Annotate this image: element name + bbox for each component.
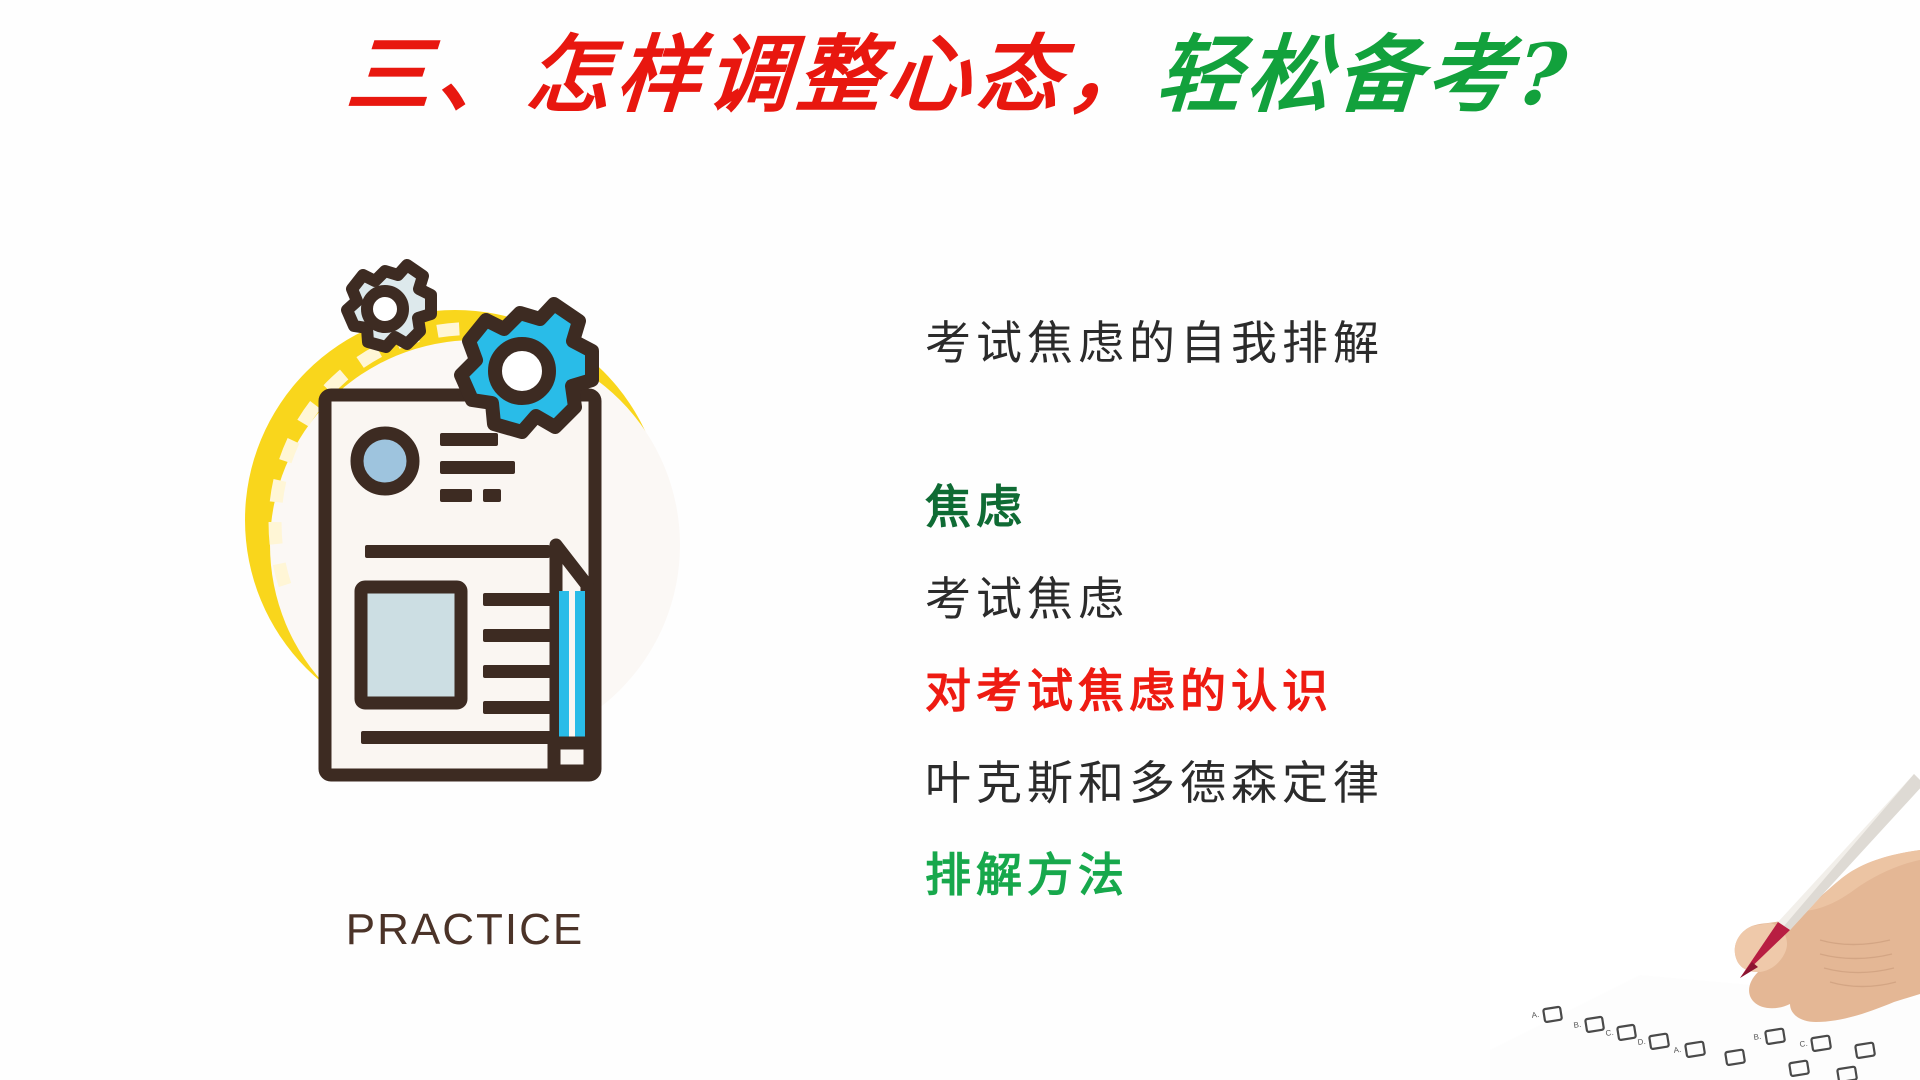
svg-text:A.: A. <box>1531 1010 1540 1020</box>
footer-rule <box>361 731 556 744</box>
title-red-segment: 三、怎样调整心态， <box>344 28 1161 122</box>
content-item-anxiety: 焦虑 <box>925 484 1605 530</box>
svg-text:C.: C. <box>1605 1028 1614 1038</box>
content-item-exam-anxiety: 考试焦虑 <box>925 576 1605 622</box>
svg-text:B.: B. <box>1573 1020 1582 1030</box>
slide-canvas: 三、怎样调整心态，轻松备考? <box>0 0 1920 1080</box>
svg-text:D.: D. <box>1637 1037 1646 1047</box>
divider-rule <box>365 545 550 558</box>
image-placeholder-box <box>361 587 461 703</box>
practice-caption: PRACTICE <box>225 905 705 955</box>
svg-text:B.: B. <box>1753 1032 1762 1042</box>
content-heading: 考试焦虑的自我排解 <box>925 320 1605 366</box>
content-item-understanding-exam-anxiety: 对考试焦虑的认识 <box>925 668 1605 714</box>
svg-text:A.: A. <box>1673 1045 1682 1055</box>
slide-title: 三、怎样调整心态，轻松备考? <box>0 28 1920 122</box>
title-green-segment: 轻松备考? <box>1154 28 1576 122</box>
svg-text:C.: C. <box>1799 1039 1808 1049</box>
avatar-circle <box>357 433 413 489</box>
practice-illustration <box>225 255 705 815</box>
pencil-icon <box>554 545 590 771</box>
hand-writing-photo: A. B. C. D. A. B. C. <box>1490 750 1920 1080</box>
